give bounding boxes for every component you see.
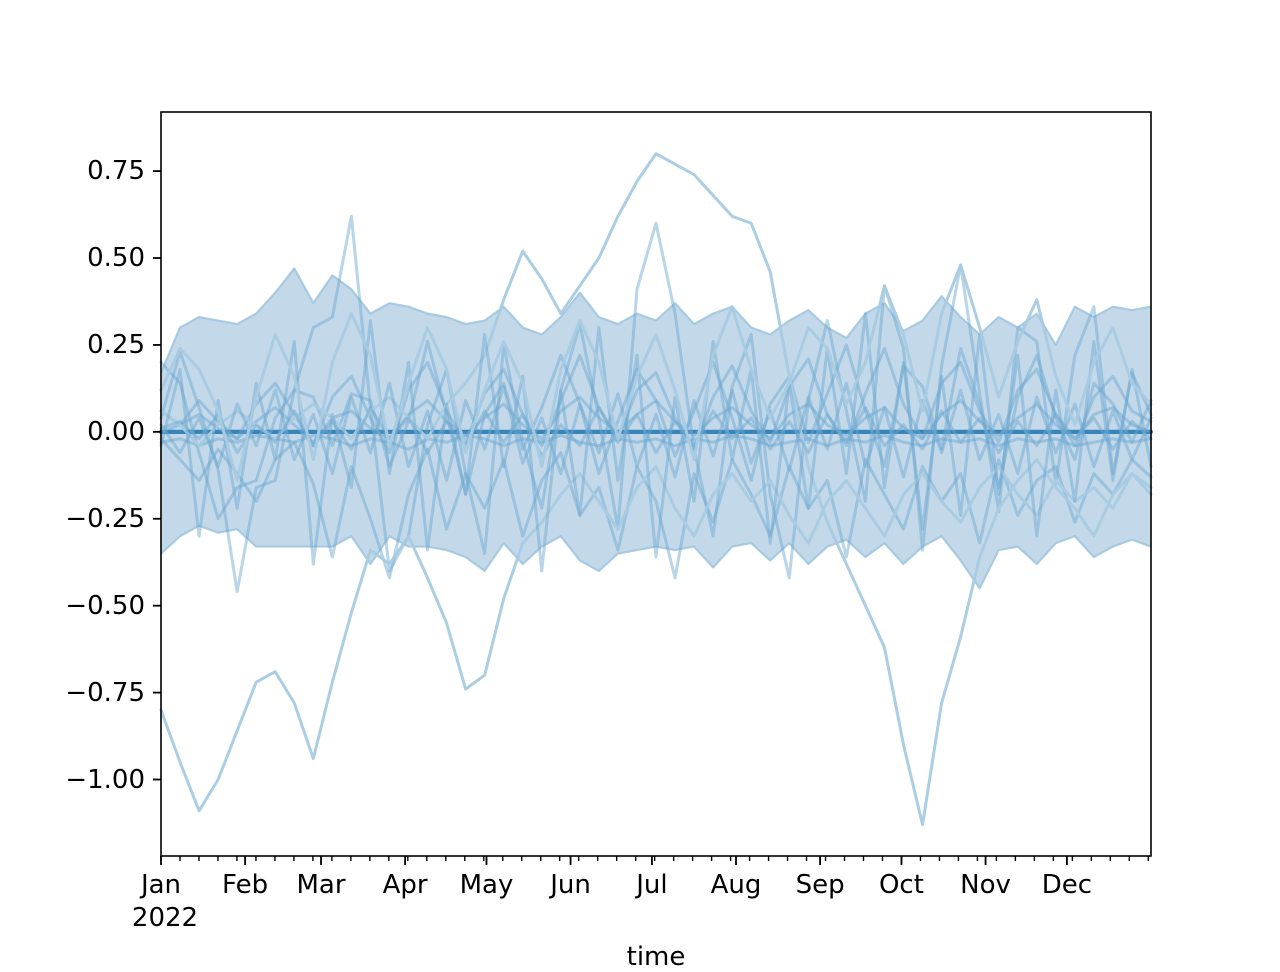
x-tick-label: Dec: [1037, 870, 1097, 900]
figure-canvas: 0.750.500.250.00−0.25−0.50−0.75−1.00 Jan…: [0, 0, 1280, 960]
x-tick-label: Jun: [541, 870, 601, 900]
x-tick-label: May: [456, 870, 516, 900]
y-tick-label: −0.75: [0, 678, 145, 708]
x-tick-label: Nov: [956, 870, 1016, 900]
y-tick-label: 0.00: [0, 417, 145, 447]
x-tick-label: Mar: [291, 870, 351, 900]
y-tick-label: 0.25: [0, 330, 145, 360]
x-tick-label: Apr: [375, 870, 435, 900]
x-tick-label: Oct: [871, 870, 931, 900]
x-tick-label: Feb: [215, 870, 275, 900]
x-tick-label: Jan: [131, 870, 191, 900]
y-tick-label: −0.25: [0, 504, 145, 534]
x-tick-label: Sep: [790, 870, 850, 900]
y-tick-label: 0.50: [0, 243, 145, 273]
y-tick-label: −1.00: [0, 765, 145, 795]
y-tick-label: 0.75: [0, 156, 145, 186]
x-tick-label: Jul: [622, 870, 682, 900]
chart-plot[interactable]: [0, 0, 1280, 960]
y-tick-label: −0.50: [0, 591, 145, 621]
x-axis-title: time: [596, 942, 716, 972]
x-tick-label: Aug: [706, 870, 766, 900]
x-tick-sublabel-year: 2022: [125, 903, 205, 933]
